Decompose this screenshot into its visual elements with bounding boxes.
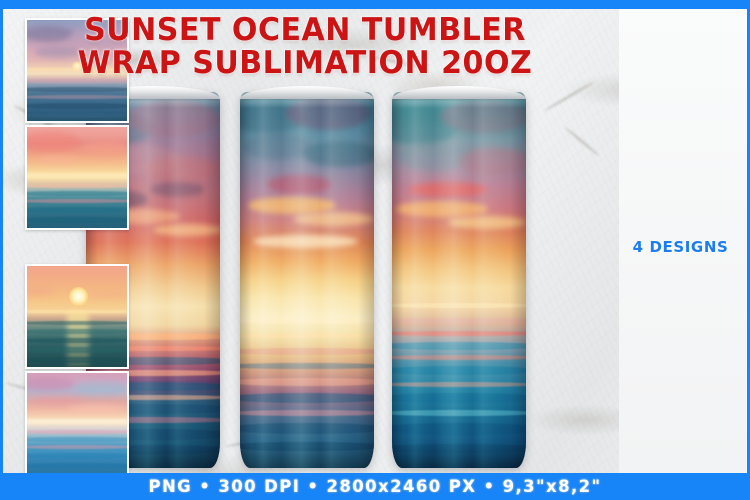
- tumbler-lid: [240, 86, 374, 99]
- water-ripple: [27, 95, 127, 99]
- water-ripple: [27, 430, 127, 434]
- cloud: [37, 155, 77, 164]
- left-accent-bar: [0, 0, 3, 500]
- water-ripple: [392, 318, 526, 324]
- water-ripple: [240, 318, 374, 324]
- top-accent-bar: [0, 0, 750, 9]
- water-ripple: [240, 333, 374, 338]
- water-ripple: [392, 366, 526, 375]
- thumbnail-sunset-pastel[interactable]: [25, 371, 129, 476]
- water-ripple: [240, 410, 374, 416]
- tumbler-lid: [392, 86, 526, 99]
- horizon-glow: [27, 173, 127, 177]
- water-ripple: [27, 103, 127, 109]
- cloud-lit: [253, 235, 358, 248]
- cloud: [302, 141, 374, 167]
- cloud-lit: [153, 224, 220, 237]
- cloud: [27, 288, 55, 295]
- water-ripple: [27, 338, 127, 343]
- thumbnail-image: [27, 373, 127, 474]
- water-ripple: [240, 423, 374, 434]
- water-ripple: [27, 453, 127, 459]
- water-ripple: [392, 382, 526, 387]
- water-ripple: [27, 191, 127, 196]
- cloud: [27, 377, 74, 391]
- water-ripple: [240, 378, 374, 386]
- water-ripple: [27, 207, 127, 213]
- water-ripple: [392, 393, 526, 404]
- water-ripple: [27, 437, 127, 442]
- title-line-2: WRAP SUBLIMATION 20OZ: [9, 47, 601, 80]
- cloud: [73, 381, 127, 394]
- water-ripple: [392, 423, 526, 435]
- water-ripple: [27, 347, 127, 353]
- tumbler-design-3[interactable]: [392, 86, 526, 468]
- thumbnail-image: [27, 127, 127, 228]
- cloud: [27, 132, 81, 152]
- cloud: [67, 405, 125, 412]
- specs-text: PNG • 300 DPI • 2800x2460 PX • 9,3"x8,2": [0, 473, 750, 500]
- cloud: [459, 148, 526, 174]
- cloud-lit: [294, 212, 374, 226]
- thumbnail-sunset-horizon[interactable]: [25, 125, 129, 230]
- water-ripple: [392, 410, 526, 416]
- water-ripple: [27, 357, 127, 363]
- water-ripple: [240, 363, 374, 370]
- base-shadow: [392, 446, 526, 468]
- water-ripple: [27, 184, 127, 188]
- cloud: [89, 292, 127, 298]
- page-title: SUNSET OCEAN TUMBLER WRAP SUBLIMATION 20…: [0, 14, 610, 80]
- cloud-lit: [448, 216, 526, 229]
- designs-count-label: 4 DESIGNS: [618, 238, 743, 256]
- base-shadow: [240, 446, 374, 468]
- sun: [69, 287, 88, 306]
- horizon-glow: [27, 419, 127, 423]
- cloud-lit: [395, 201, 489, 217]
- cloud: [145, 156, 220, 182]
- cloud-lit: [248, 197, 336, 214]
- water-ripple: [392, 342, 526, 350]
- tumbler-body: [392, 92, 526, 468]
- tumbler-design-2[interactable]: [240, 86, 374, 468]
- water-ripple: [27, 217, 127, 223]
- water-ripple: [27, 87, 127, 92]
- title-line-1: SUNSET OCEAN TUMBLER: [9, 14, 601, 47]
- water-ripple: [27, 199, 127, 203]
- cloud: [83, 141, 127, 155]
- water-ripple: [392, 303, 526, 308]
- water-ripple: [27, 113, 127, 118]
- water-ripple: [27, 329, 127, 334]
- thumbnail-sunset-big-sun[interactable]: [25, 264, 129, 369]
- water-ripple: [27, 445, 127, 449]
- water-ripple: [392, 331, 526, 336]
- product-mockup-canvas: 4 DESIGNS: [0, 0, 750, 500]
- thumbnail-image: [27, 266, 127, 367]
- water-ripple: [27, 463, 127, 469]
- cloud: [33, 397, 83, 405]
- water-ripple: [240, 393, 374, 403]
- water-ripple: [240, 348, 374, 356]
- water-ripple: [27, 321, 127, 325]
- tumbler-body: [240, 92, 374, 468]
- cloud: [267, 175, 331, 194]
